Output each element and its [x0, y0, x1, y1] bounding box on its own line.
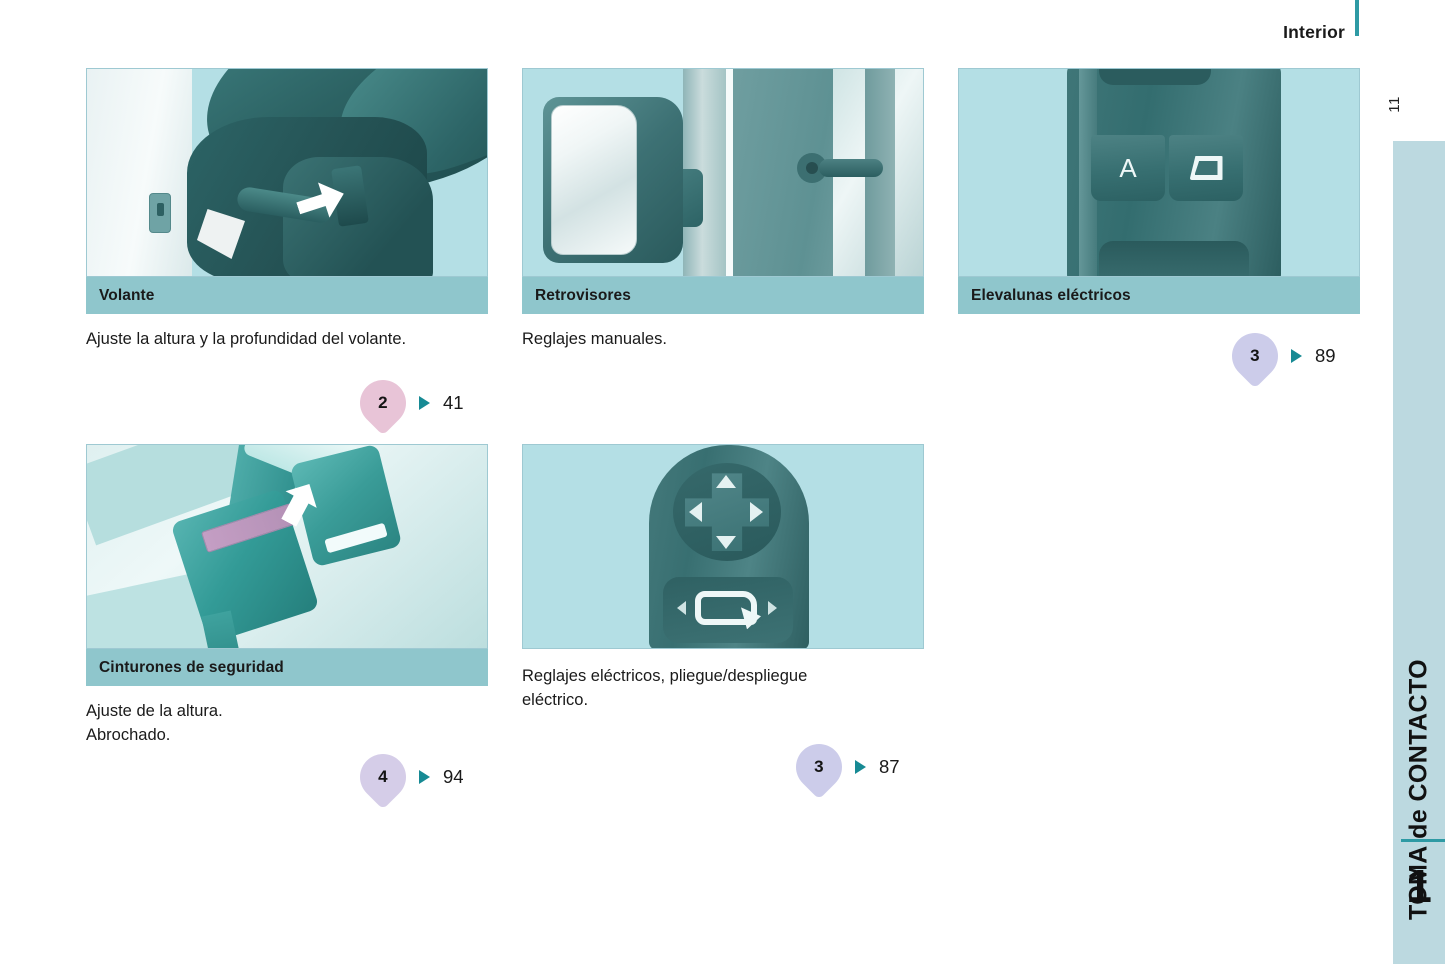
reference-arrow-icon — [419, 770, 430, 784]
arrow-down-icon — [716, 536, 736, 549]
reference-page-number[interactable]: 87 — [879, 756, 900, 778]
arrow-right-icon — [750, 502, 763, 522]
reference-page-number[interactable]: 89 — [1315, 345, 1336, 367]
arrow-up-icon — [716, 475, 736, 488]
panel-volante: Volante Ajuste la altura y la profundida… — [86, 68, 488, 351]
panel-caption-elevalunas: Elevalunas eléctricos — [958, 277, 1360, 314]
mirror-glass-icon — [551, 105, 637, 255]
caption-text: Elevalunas eléctricos — [971, 287, 1131, 305]
chapter-side-tab: TOMA de CONTACTO 1 — [1393, 141, 1445, 964]
body-line: Abrochado. — [86, 724, 486, 747]
window-auto-button-icon: A — [1091, 135, 1165, 201]
window-auto-label: A — [1119, 155, 1136, 181]
content-grid: Volante Ajuste la altura y la profundida… — [86, 68, 1361, 747]
door-handle-icon — [819, 159, 883, 177]
arrow-left-icon — [689, 502, 702, 522]
body-line: eléctrico. — [522, 689, 922, 712]
page-header: Interior — [1283, 22, 1345, 43]
panel-caption-retrovisores: Retrovisores — [522, 277, 924, 314]
reference-page-number[interactable]: 41 — [443, 392, 464, 414]
reference-retrovisores-electricos[interactable]: 3 87 — [796, 744, 900, 790]
reference-badge[interactable]: 2 — [350, 370, 415, 435]
panel-caption-volante: Volante — [86, 277, 488, 314]
mirror-joystick-control-illustration — [522, 444, 924, 649]
body-line: Ajuste de la altura. — [86, 700, 486, 723]
page-title: Interior — [1283, 22, 1345, 43]
steering-column-illustration — [86, 68, 488, 277]
caption-text: Cinturones de seguridad — [99, 659, 284, 677]
panel-row-1: Volante Ajuste la altura y la profundida… — [86, 68, 1361, 351]
reference-badge[interactable]: 4 — [350, 745, 415, 810]
panel-caption-cinturones: Cinturones de seguridad — [86, 649, 488, 686]
panel-retrovisores-electricos: Reglajes eléctricos, pliegue/despliegue … — [522, 444, 924, 712]
reference-arrow-icon — [855, 760, 866, 774]
steering-adjust-button-icon — [149, 193, 171, 233]
page-number: 11 — [1386, 96, 1403, 113]
select-right-icon — [768, 601, 777, 615]
reference-volante[interactable]: 2 41 — [360, 380, 464, 426]
window-glass-button-icon — [1169, 135, 1243, 201]
body-line: Reglajes manuales. — [522, 328, 922, 351]
electric-window-switch-illustration: A — [958, 68, 1360, 277]
reference-badge[interactable]: 3 — [1222, 323, 1287, 388]
panel-body-retrovisores: Reglajes manuales. — [522, 328, 922, 351]
panel-body-retrovisores-electricos: Reglajes eléctricos, pliegue/despliegue … — [522, 665, 922, 712]
reference-badge[interactable]: 3 — [786, 735, 851, 800]
reference-badge-number: 4 — [378, 767, 387, 787]
seat-belt-buckle-illustration — [86, 444, 488, 649]
panel-body-cinturones: Ajuste de la altura. Abrochado. — [86, 700, 486, 747]
chapter-divider — [1401, 839, 1445, 842]
select-left-icon — [677, 601, 686, 615]
chapter-number: 1 — [1393, 863, 1445, 909]
panel-body-volante: Ajuste la altura y la profundidad del vo… — [86, 328, 486, 351]
reference-arrow-icon — [419, 396, 430, 410]
reference-badge-number: 3 — [1250, 346, 1259, 366]
reference-arrow-icon — [1291, 349, 1302, 363]
reference-badge-number: 3 — [814, 757, 823, 777]
header-accent-bar — [1355, 0, 1359, 36]
reference-badge-number: 2 — [378, 393, 387, 413]
panel-cinturones: Cinturones de seguridad Ajuste de la alt… — [86, 444, 488, 747]
reference-elevalunas[interactable]: 3 89 — [1232, 333, 1336, 379]
panel-retrovisores: Retrovisores Reglajes manuales. — [522, 68, 924, 351]
side-mirror-illustration — [522, 68, 924, 277]
reference-cinturones[interactable]: 4 94 — [360, 754, 464, 800]
panel-row-2: Cinturones de seguridad Ajuste de la alt… — [86, 444, 1361, 747]
body-line: Ajuste la altura y la profundidad del vo… — [86, 328, 486, 351]
panel-elevalunas: A Elevalunas eléctricos 3 89 — [958, 68, 1360, 314]
body-line: Reglajes eléctricos, pliegue/despliegue — [522, 665, 922, 688]
caption-text: Volante — [99, 287, 155, 305]
reference-page-number[interactable]: 94 — [443, 766, 464, 788]
caption-text: Retrovisores — [535, 287, 631, 305]
